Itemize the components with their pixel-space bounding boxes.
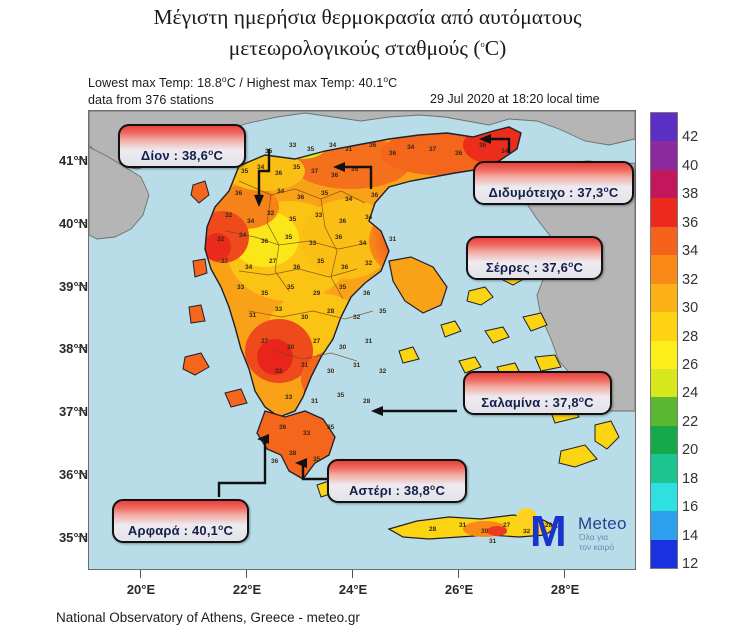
svg-text:36: 36	[339, 218, 347, 225]
svg-text:36: 36	[335, 234, 343, 241]
svg-text:31: 31	[489, 538, 497, 545]
latitude-tick-mark	[78, 159, 86, 160]
svg-text:35: 35	[293, 164, 301, 171]
colorbar-tick-label: 36	[682, 215, 698, 231]
svg-text:30: 30	[481, 528, 489, 535]
svg-text:32: 32	[267, 210, 275, 217]
svg-text:31: 31	[389, 236, 397, 243]
latitude-tick-mark	[78, 473, 86, 474]
svg-text:28: 28	[429, 526, 437, 533]
latitude-tick: 37°N	[0, 404, 88, 418]
svg-text:33: 33	[237, 284, 245, 291]
callout-didymoteicho-label: Διδυμότειχο : 37,3 oC	[489, 166, 619, 200]
svg-text:35: 35	[285, 234, 293, 241]
svg-text:30: 30	[301, 314, 309, 321]
svg-text:34: 34	[277, 188, 285, 195]
svg-text:31: 31	[249, 312, 257, 319]
svg-text:34: 34	[359, 240, 367, 247]
latitude-tick-label: 40°N	[26, 216, 88, 231]
title-line-1: Μέγιστη ημερήσια θερμοκρασία από αυτόματ…	[153, 5, 581, 29]
subtitle-station-count: data from 376 stations	[88, 93, 397, 107]
colorbar-tick-label: 42	[682, 129, 698, 145]
longitude-tick-mark	[352, 570, 353, 578]
weather-map-figure: Μέγιστη ημερήσια θερμοκρασία από αυτόματ…	[0, 0, 735, 639]
latitude-tick-label: 39°N	[26, 279, 88, 294]
colorbar-segment	[651, 198, 677, 226]
svg-text:36: 36	[341, 264, 349, 271]
longitude-tick-label: 28°E	[535, 582, 595, 597]
subtitle-temperatures: Lowest max Temp: 18.8oC / Highest max Te…	[88, 76, 397, 90]
svg-text:33: 33	[309, 240, 317, 247]
svg-text:35: 35	[289, 216, 297, 223]
svg-text:36: 36	[363, 290, 371, 297]
colorbar-segment	[651, 397, 677, 425]
callout-serres-label: Σέρρες : 37,6 oC	[486, 241, 583, 275]
colorbar-segment	[651, 312, 677, 340]
latitude-tick: 41°N	[0, 153, 88, 167]
latitude-tick: 39°N	[0, 279, 88, 293]
svg-text:36: 36	[479, 142, 487, 149]
colorbar-segment	[651, 483, 677, 511]
colorbar-tick-label: 20	[682, 442, 698, 458]
longitude-tick-mark	[564, 570, 565, 578]
svg-text:38: 38	[289, 450, 297, 457]
longitude-tick-mark	[140, 570, 141, 578]
colorbar-tick-label: 14	[682, 528, 698, 544]
svg-text:35: 35	[313, 456, 321, 463]
title-line-2: μετεωρολογικούς σταθμούς (oC)	[0, 31, 735, 62]
callout-asteri-label: Αστέρι : 38,8 oC	[349, 464, 445, 498]
svg-text:34: 34	[345, 196, 353, 203]
svg-text:33: 33	[285, 394, 293, 401]
svg-text:33: 33	[289, 142, 297, 149]
svg-text:35: 35	[287, 284, 295, 291]
callout-didymoteicho[interactable]: Διδυμότειχο : 37,3 oC	[473, 161, 634, 205]
svg-text:28: 28	[363, 398, 371, 405]
svg-text:32: 32	[379, 368, 387, 375]
svg-text:36: 36	[371, 192, 379, 199]
colorbar-tick-label: 16	[682, 499, 698, 515]
latitude-tick-label: 35°N	[26, 530, 88, 545]
latitude-tick: 36°N	[0, 467, 88, 481]
svg-text:36: 36	[293, 264, 301, 271]
longitude-tick: 24°E	[323, 570, 383, 610]
svg-text:35: 35	[317, 258, 325, 265]
colorbar-tick-label: 34	[682, 243, 698, 259]
colorbar-segment	[651, 141, 677, 169]
svg-text:28: 28	[327, 308, 335, 315]
longitude-tick-label: 26°E	[429, 582, 489, 597]
longitude-tick: 22°E	[217, 570, 277, 610]
svg-text:31: 31	[345, 146, 353, 153]
latitude-tick-mark	[78, 410, 86, 411]
svg-text:34: 34	[501, 148, 509, 155]
svg-text:33: 33	[275, 368, 283, 375]
colorbar-segment	[651, 454, 677, 482]
svg-text:36: 36	[455, 150, 463, 157]
svg-text:31: 31	[365, 338, 373, 345]
svg-text:27: 27	[313, 338, 321, 345]
longitude-tick: 28°E	[535, 570, 595, 610]
svg-text:32: 32	[365, 260, 373, 267]
callout-arfara[interactable]: Αρφαρά : 40,1 oC	[112, 499, 249, 543]
longitude-tick-label: 24°E	[323, 582, 383, 597]
meteo-m-mark: M	[530, 512, 565, 552]
callout-dion-label: Δίον : 38,6 oC	[141, 129, 223, 163]
svg-text:36: 36	[297, 194, 305, 201]
colorbar-tick-label: 30	[682, 300, 698, 316]
svg-text:32: 32	[225, 212, 233, 219]
svg-text:30: 30	[339, 344, 347, 351]
svg-text:34: 34	[407, 144, 415, 151]
colorbar-tick-label: 24	[682, 385, 698, 401]
latitude-tick-mark	[78, 536, 86, 537]
colorbar-tick-label: 12	[682, 556, 698, 572]
svg-text:32: 32	[217, 236, 225, 243]
svg-text:35: 35	[337, 392, 345, 399]
longitude-tick: 20°E	[111, 570, 171, 610]
latitude-tick-label: 41°N	[26, 153, 88, 168]
svg-text:35: 35	[321, 190, 329, 197]
colorbar-tick-label: 26	[682, 357, 698, 373]
svg-text:35: 35	[327, 424, 335, 431]
svg-text:33: 33	[315, 212, 323, 219]
svg-text:34: 34	[365, 214, 373, 221]
svg-text:33: 33	[303, 430, 311, 437]
callout-asteri[interactable]: Αστέρι : 38,8 oC	[327, 459, 467, 503]
svg-text:36: 36	[331, 172, 339, 179]
colorbar-tick-label: 22	[682, 414, 698, 430]
svg-text:36: 36	[271, 458, 279, 465]
colorbar-segment	[651, 540, 677, 568]
latitude-tick: 38°N	[0, 341, 88, 355]
callout-arfara-label: Αρφαρά : 40,1 oC	[128, 504, 233, 538]
colorbar-tick-label: 18	[682, 471, 698, 487]
svg-text:29: 29	[313, 290, 321, 297]
latitude-tick-mark	[78, 222, 86, 223]
subtitle-timestamp: 29 Jul 2020 at 18:20 local time	[430, 92, 600, 106]
svg-text:34: 34	[329, 142, 337, 149]
callout-serres[interactable]: Σέρρες : 37,6 oC	[466, 236, 603, 280]
latitude-tick-mark	[78, 285, 86, 286]
svg-text:31: 31	[459, 522, 467, 529]
latitude-tick: 35°N	[0, 530, 88, 544]
svg-text:27: 27	[261, 338, 269, 345]
svg-text:32: 32	[353, 314, 361, 321]
colorbar-segment	[651, 255, 677, 283]
colorbar-segment	[651, 170, 677, 198]
subtitle-block: Lowest max Temp: 18.8oC / Highest max Te…	[88, 74, 397, 107]
svg-text:34: 34	[245, 264, 253, 271]
credit-line: National Observatory of Athens, Greece -…	[56, 610, 360, 625]
svg-text:36: 36	[279, 424, 287, 431]
svg-text:31: 31	[301, 362, 309, 369]
colorbar-segment	[651, 369, 677, 397]
svg-text:31: 31	[353, 362, 361, 369]
longitude-tick: 26°E	[429, 570, 489, 610]
colorbar-segment	[651, 511, 677, 539]
svg-text:35: 35	[261, 290, 269, 297]
colorbar-segment	[651, 426, 677, 454]
meteo-wordmark: Meteo	[578, 514, 627, 534]
latitude-tick-label: 38°N	[26, 341, 88, 356]
svg-text:37: 37	[429, 146, 437, 153]
colorbar-tick-label: 32	[682, 272, 698, 288]
colorbar-tick-label: 28	[682, 329, 698, 345]
longitude-tick-label: 20°E	[111, 582, 171, 597]
svg-text:34: 34	[247, 218, 255, 225]
svg-text:27: 27	[269, 258, 277, 265]
svg-text:37: 37	[311, 168, 319, 175]
colorbar-segment	[651, 341, 677, 369]
page-title: Μέγιστη ημερήσια θερμοκρασία από αυτόματ…	[0, 4, 735, 62]
latitude-tick-mark	[78, 347, 86, 348]
latitude-tick-label: 36°N	[26, 467, 88, 482]
longitude-tick-mark	[246, 570, 247, 578]
svg-text:35: 35	[339, 284, 347, 291]
latitude-tick-label: 37°N	[26, 404, 88, 419]
svg-text:33: 33	[275, 306, 283, 313]
longitude-tick-mark	[458, 570, 459, 578]
colorbar-segment	[651, 284, 677, 312]
svg-text:36: 36	[235, 190, 243, 197]
svg-text:37: 37	[221, 258, 229, 265]
callout-salamina-label: Σαλαμίνα : 37,8 oC	[481, 376, 594, 410]
callout-salamina[interactable]: Σαλαμίνα : 37,8 oC	[463, 371, 612, 415]
svg-text:30: 30	[327, 368, 335, 375]
svg-text:36: 36	[275, 170, 283, 177]
colorbar-tick-label: 38	[682, 186, 698, 202]
colorbar-segment	[651, 227, 677, 255]
longitude-tick-label: 22°E	[217, 582, 277, 597]
svg-text:35: 35	[307, 146, 315, 153]
svg-text:36: 36	[369, 142, 377, 149]
colorbar-tick-label: 40	[682, 158, 698, 174]
svg-text:36: 36	[261, 238, 269, 245]
meteo-logo[interactable]: M Meteo Όλα γιατον καιρό	[508, 498, 633, 560]
temperature-colorbar[interactable]	[650, 112, 678, 569]
svg-text:36: 36	[389, 150, 397, 157]
svg-text:34: 34	[239, 232, 247, 239]
callout-dion[interactable]: Δίον : 38,6 oC	[118, 124, 246, 168]
svg-text:35: 35	[379, 308, 387, 315]
latitude-tick: 40°N	[0, 216, 88, 230]
meteo-tagline: Όλα γιατον καιρό	[579, 533, 614, 552]
svg-text:30: 30	[287, 344, 295, 351]
colorbar-segment	[651, 113, 677, 141]
svg-text:31: 31	[311, 398, 319, 405]
svg-text:35: 35	[241, 168, 249, 175]
